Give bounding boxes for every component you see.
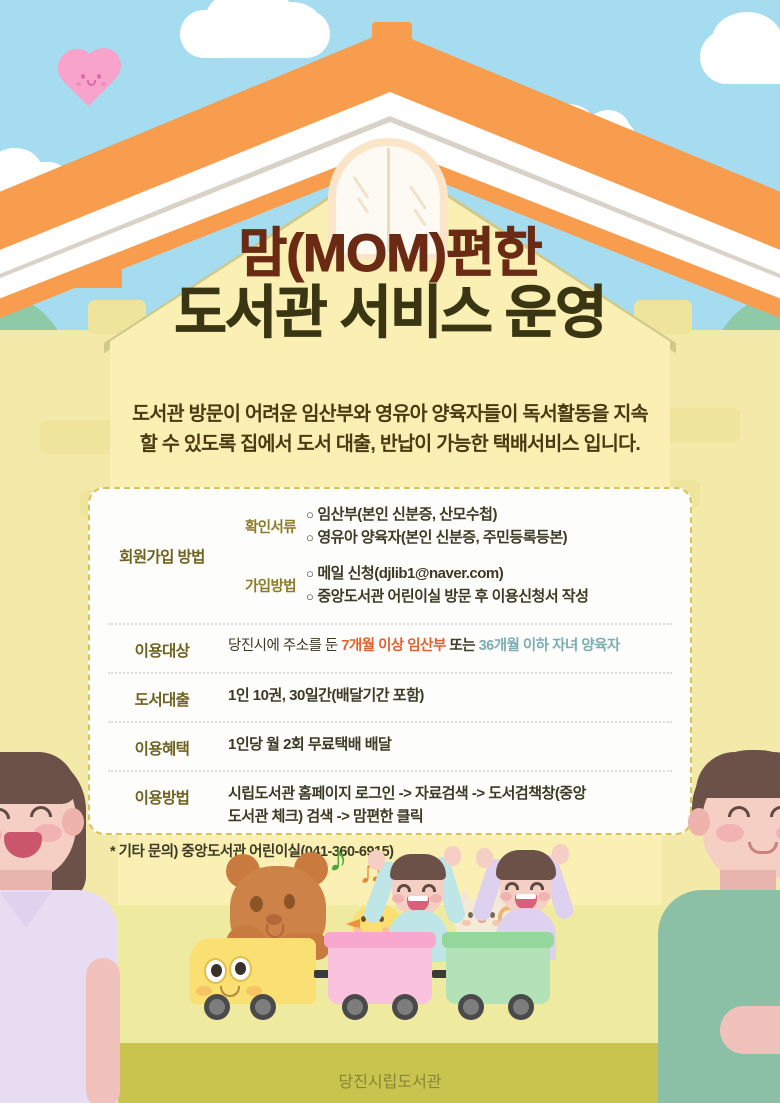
membership-sublabel-howto: 가입방법 bbox=[218, 575, 296, 596]
heart-face bbox=[74, 70, 108, 94]
train-car-green-top bbox=[442, 932, 554, 948]
father-hand bbox=[720, 1006, 780, 1054]
list-item: ○임산부(본인 신분증, 산모수첩) bbox=[306, 504, 674, 527]
child-cheek bbox=[430, 894, 442, 903]
membership-group-howto: 가입방법 ○메일 신청(djlib1@naver.com) ○중앙도서관 어린이… bbox=[218, 560, 674, 611]
child-hand bbox=[368, 850, 385, 870]
target-middle: 또는 bbox=[446, 638, 479, 654]
train-car-pink-top bbox=[324, 932, 436, 948]
train-wheel bbox=[508, 994, 534, 1020]
child-hand bbox=[444, 846, 461, 866]
membership-documents-list: ○임산부(본인 신분증, 산모수첩) ○영유아 양육자(본인 신분증, 주민등록… bbox=[296, 504, 674, 549]
footer-organization: 당진시립도서관 bbox=[0, 1068, 780, 1092]
subtitle-line-1: 도서관 방문이 어려운 임산부와 영유아 양육자들이 독서활동을 지속 bbox=[0, 400, 780, 430]
table-row-target: 이용대상 당진시에 주소를 둔 7개월 이상 임산부 또는 36개월 이하 자녀… bbox=[106, 625, 674, 672]
train-wheel bbox=[342, 994, 368, 1020]
child-cheek bbox=[538, 892, 550, 901]
cloud-icon bbox=[712, 12, 780, 68]
membership-sublabel-documents: 확인서류 bbox=[218, 516, 296, 537]
child-teeth bbox=[516, 894, 536, 899]
list-item: ○메일 신청(djlib1@naver.com) bbox=[306, 563, 674, 586]
child-hand bbox=[552, 844, 569, 864]
child-cheek bbox=[392, 894, 404, 903]
membership-label: 회원가입 방법 bbox=[106, 501, 218, 611]
row-value-loan: 1인 10권, 30일간(배달기간 포함) bbox=[218, 685, 674, 708]
train-wheel bbox=[250, 994, 276, 1020]
train-wheel bbox=[204, 994, 230, 1020]
child-teeth bbox=[408, 896, 428, 901]
circle-bullet-icon: ○ bbox=[306, 566, 313, 581]
list-item: ○중앙도서관 어린이실 방문 후 이용신청서 작성 bbox=[306, 586, 674, 609]
target-highlight-orange: 7개월 이상 임산부 bbox=[341, 638, 446, 654]
title-line-2: 도서관 서비스 운영 bbox=[0, 283, 780, 345]
toy-train-icon bbox=[190, 930, 590, 1030]
info-card: 회원가입 방법 확인서류 ○임산부(본인 신분증, 산모수첩) ○영유아 양육자… bbox=[88, 487, 692, 835]
child-eye bbox=[422, 884, 436, 892]
father-cheek bbox=[716, 824, 744, 842]
child-hair bbox=[390, 854, 446, 880]
list-item: ○영유아 양육자(본인 신분증, 주민등록등본) bbox=[306, 527, 674, 550]
subtitle-line-2: 할 수 있도록 집에서 도서 대출, 반납이 가능한 택배서비스 입니다. bbox=[0, 430, 780, 460]
table-row-loan: 도서대출 1인 10권, 30일간(배달기간 포함) bbox=[106, 674, 674, 721]
poster-root: 맘(MOM)편한 도서관 서비스 운영 도서관 방문이 어려운 임산부와 영유아… bbox=[0, 0, 780, 1103]
membership-howto-list: ○메일 신청(djlib1@naver.com) ○중앙도서관 어린이실 방문 … bbox=[296, 563, 674, 608]
father-ear bbox=[688, 808, 710, 836]
train-engine-cheek bbox=[196, 986, 212, 996]
row-value-target: 당진시에 주소를 둔 7개월 이상 임산부 또는 36개월 이하 자녀 양육자 bbox=[218, 636, 674, 658]
page-title: 맘(MOM)편한 도서관 서비스 운영 bbox=[0, 226, 780, 345]
circle-bullet-icon: ○ bbox=[306, 530, 313, 545]
row-value-usage: 시립도서관 홈페이지 로그인 -> 자료검색 -> 도서검책창(중앙 도서관 체… bbox=[218, 783, 674, 828]
membership-group-documents: 확인서류 ○임산부(본인 신분증, 산모수첩) ○영유아 양육자(본인 신분증,… bbox=[218, 501, 674, 552]
row-value-benefit: 1인당 월 2회 무료택배 배달 bbox=[218, 734, 674, 757]
row-label-target: 이용대상 bbox=[106, 636, 218, 661]
table-row-benefit: 이용혜택 1인당 월 2회 무료택배 배달 bbox=[106, 723, 674, 770]
membership-section: 회원가입 방법 확인서류 ○임산부(본인 신분증, 산모수첩) ○영유아 양육자… bbox=[106, 501, 674, 611]
train-wheel bbox=[458, 994, 484, 1020]
child-eye bbox=[397, 884, 411, 892]
title-line-1: 맘(MOM)편한 bbox=[0, 226, 780, 281]
child-cheek bbox=[500, 892, 512, 901]
father-hair-top bbox=[696, 752, 780, 798]
circle-bullet-icon: ○ bbox=[306, 589, 313, 604]
child-eye bbox=[530, 882, 544, 890]
child-hair bbox=[496, 850, 556, 880]
table-row-usage: 이용방법 시립도서관 홈페이지 로그인 -> 자료검색 -> 도서검책창(중앙 … bbox=[106, 772, 674, 834]
mother-hair-front bbox=[0, 752, 76, 804]
train-wheel bbox=[392, 994, 418, 1020]
child-hand bbox=[476, 848, 493, 868]
usage-line-2: 도서관 체크) 검색 -> 맘편한 클릭 bbox=[228, 806, 674, 829]
subtitle: 도서관 방문이 어려운 임산부와 영유아 양육자들이 독서활동을 지속 할 수 … bbox=[0, 400, 780, 459]
mother-figure bbox=[0, 752, 126, 1103]
circle-bullet-icon: ○ bbox=[306, 507, 313, 522]
target-prefix: 당진시에 주소를 둔 bbox=[228, 638, 341, 654]
train-engine-pupil bbox=[235, 962, 246, 975]
row-label-loan: 도서대출 bbox=[106, 685, 218, 710]
mother-ear bbox=[62, 808, 84, 836]
father-figure bbox=[644, 750, 780, 1103]
child-eye bbox=[505, 882, 519, 890]
usage-line-1: 시립도서관 홈페이지 로그인 -> 자료검색 -> 도서검책창(중앙 bbox=[228, 783, 674, 806]
train-engine-pupil bbox=[211, 964, 222, 977]
target-highlight-teal: 36개월 이하 자녀 양육자 bbox=[479, 638, 620, 654]
cloud-icon bbox=[262, 2, 322, 50]
